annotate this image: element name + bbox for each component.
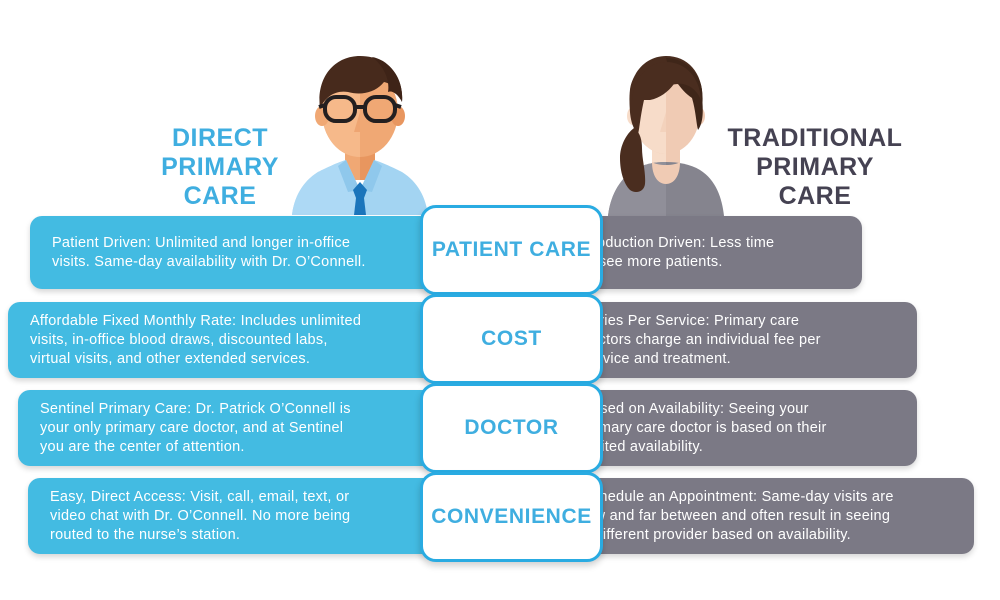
heading-traditional-primary-care: TRADITIONAL PRIMARY CARE (700, 124, 930, 211)
tpc-cell-text: Based on Availability: Seeing your prima… (562, 400, 847, 457)
tpc-cell-text: Varies Per Service: Primary care doctors… (562, 312, 841, 369)
category-convenience[interactable]: CONVENIENCE (420, 472, 603, 562)
tpc-cell-cost: Varies Per Service: Primary care doctors… (562, 302, 917, 378)
category-label: PATIENT CARE (432, 238, 591, 262)
tpc-cell-convenience: Schedule an Appointment: Same-day visits… (562, 478, 974, 554)
dpc-cell-text: Affordable Fixed Monthly Rate: Includes … (8, 312, 383, 369)
category-label: CONVENIENCE (431, 505, 592, 529)
comparison-infographic: DIRECT PRIMARY CARE TRADITIONAL PRIMARY … (0, 0, 1000, 600)
dpc-cell-cost: Affordable Fixed Monthly Rate: Includes … (8, 302, 490, 378)
category-label: DOCTOR (464, 416, 558, 440)
category-doctor[interactable]: DOCTOR (420, 383, 603, 473)
category-label: COST (481, 327, 542, 351)
category-patient-care[interactable]: PATIENT CARE (420, 205, 603, 295)
heading-direct-primary-care: DIRECT PRIMARY CARE (120, 124, 320, 211)
tpc-cell-patient-care: Production Driven: Less time to see more… (562, 216, 862, 289)
tpc-cell-text: Schedule an Appointment: Same-day visits… (562, 488, 914, 545)
dpc-cell-text: Easy, Direct Access: Visit, call, email,… (28, 488, 372, 545)
category-cost[interactable]: COST (420, 294, 603, 384)
dpc-cell-text: Sentinel Primary Care: Dr. Patrick O’Con… (18, 400, 373, 457)
tpc-cell-doctor: Based on Availability: Seeing your prima… (562, 390, 917, 466)
dpc-cell-text: Patient Driven: Unlimited and longer in-… (30, 234, 388, 272)
